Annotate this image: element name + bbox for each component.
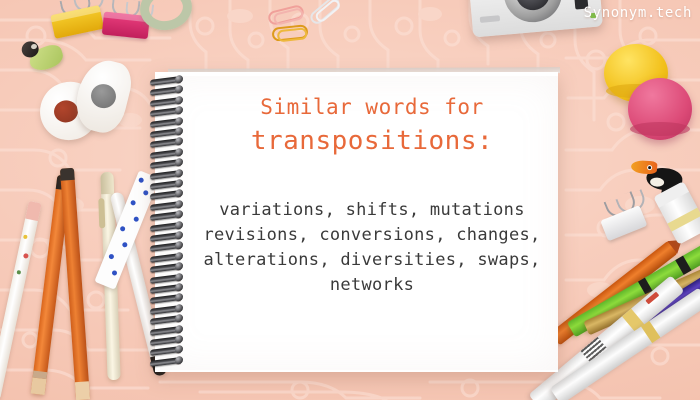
spiral-coil (150, 284, 180, 294)
synonym-line-4: networks (186, 273, 558, 298)
spiral-coil (150, 139, 180, 149)
screenshot-canvas: Similar words for transpositions: variat… (0, 0, 700, 400)
spiral-coil (150, 357, 180, 367)
spiral-coil (150, 263, 180, 273)
spiral-coil (150, 128, 180, 138)
spiral-coil (150, 118, 180, 128)
paper-clip-orange (271, 24, 308, 42)
spiral-coil (150, 180, 180, 190)
spiral-coil (150, 76, 180, 86)
spiral-coil (150, 97, 180, 107)
spiral-coil (150, 243, 180, 253)
title-line: Similar words for (186, 92, 558, 122)
spiral-coil (150, 232, 180, 242)
spiral-coil (150, 222, 180, 232)
spiral-coil (150, 253, 180, 263)
spiral-coil (150, 149, 180, 159)
spiral-coil (150, 87, 180, 97)
spiral-coil (150, 211, 180, 221)
spiral-coil (150, 336, 180, 346)
spiral-coil (150, 107, 180, 117)
site-watermark: Synonym.tech (584, 5, 692, 21)
synonym-line-3: alterations, diversities, swaps, (186, 248, 558, 273)
spiral-coil (150, 159, 180, 169)
spiral-coil (150, 315, 180, 325)
synonym-line-1: variations, shifts, mutations (186, 198, 558, 223)
spiral-coil (150, 274, 180, 284)
headline-word: transpositions: (186, 124, 558, 158)
spiral-coil (150, 347, 180, 357)
synonym-line-2: revisions, conversions, changes, (186, 223, 558, 248)
spiral-coil (150, 305, 180, 315)
spiral-coil (150, 201, 180, 211)
macaron-pink (628, 78, 692, 140)
spiral-coil (150, 170, 180, 180)
synonym-list: variations, shifts, mutationsrevisions, … (186, 198, 558, 298)
notebook-spiral-binding (150, 78, 186, 370)
synonym-text-block: Similar words for transpositions: variat… (186, 92, 558, 298)
spiral-coil (150, 295, 180, 305)
spiral-coil (150, 191, 180, 201)
spiral-coil (150, 326, 180, 336)
